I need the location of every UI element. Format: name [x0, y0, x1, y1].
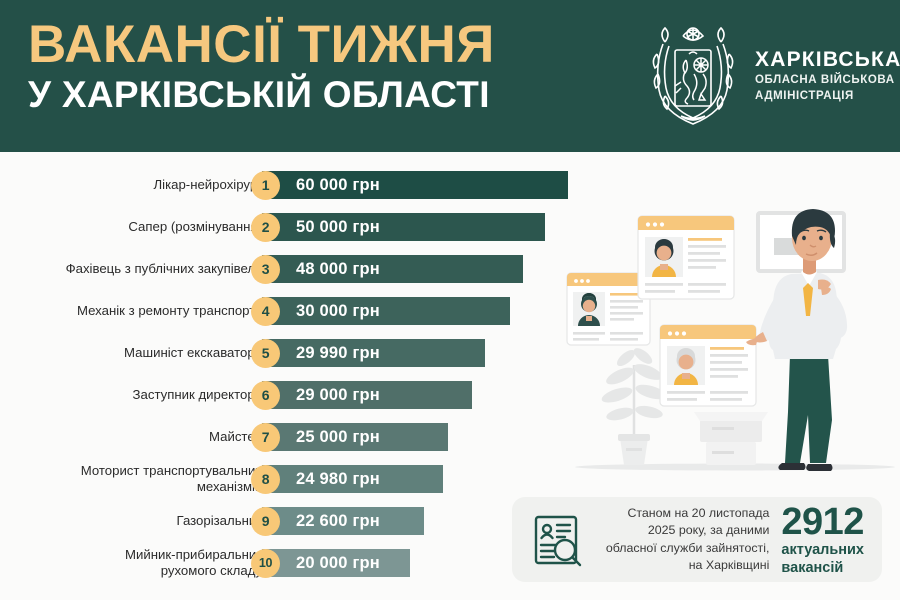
- summary-note-line-2: 2025 року, за даними: [596, 522, 769, 540]
- logo-text-block: ХАРКІВСЬКА ОБЛАСНА ВІЙСЬКОВА АДМІНІСТРАЦ…: [755, 47, 900, 104]
- salary-bar: 824 980 грн: [262, 465, 443, 493]
- title-line-1: ВАКАНСІЇ ТИЖНЯ: [28, 16, 495, 73]
- salary-value: 50 000 грн: [296, 218, 380, 237]
- job-title-label: Механік з ремонту транспорту: [32, 291, 262, 331]
- salary-value: 22 600 грн: [296, 512, 380, 531]
- job-title-label: Заступник директора: [32, 375, 262, 415]
- summary-note-line-3: обласної служби зайнятості,: [596, 540, 769, 558]
- rank-badge: 3: [251, 255, 280, 284]
- chart-row: Фахівець з публічних закупівель348 000 г…: [0, 249, 585, 289]
- cv-card: [660, 325, 756, 406]
- organization-logo: ХАРКІВСЬКА ОБЛАСНА ВІЙСЬКОВА АДМІНІСТРАЦ…: [645, 20, 900, 130]
- chart-row: Моторист транспортувальнихмеханізмів824 …: [0, 459, 585, 499]
- salary-bar: 250 000 грн: [262, 213, 545, 241]
- vacancy-count-label-1: актуальних: [781, 541, 864, 559]
- job-title-line: Лікар-нейрохірург: [153, 177, 262, 193]
- rank-badge: 1: [251, 171, 280, 200]
- salary-value: 24 980 грн: [296, 470, 380, 489]
- salary-value: 20 000 грн: [296, 554, 380, 573]
- job-title-label: Мийник-прибиральникрухомого складу: [32, 543, 262, 583]
- job-title-label: Машиніст екскаватора: [32, 333, 262, 373]
- vacancy-count-stat: 2912 актуальних вакансій: [781, 503, 864, 577]
- job-title-line: Газорізальник: [177, 513, 262, 529]
- plant: [600, 345, 668, 465]
- page-title: ВАКАНСІЇ ТИЖНЯ У ХАРКІВСЬКІЙ ОБЛАСТІ: [28, 16, 495, 117]
- summary-note-line-4: на Харківщині: [596, 557, 769, 575]
- salary-value: 30 000 грн: [296, 302, 380, 321]
- salary-value: 60 000 грн: [296, 176, 380, 195]
- salary-bar: 629 000 грн: [262, 381, 472, 409]
- rank-badge: 7: [251, 423, 280, 452]
- chart-row: Сапер (розмінування)250 000 грн: [0, 207, 585, 247]
- job-title-line: Моторист транспортувальних: [81, 463, 262, 479]
- chart-row: Мийник-прибиральникрухомого складу1020 0…: [0, 543, 585, 583]
- vacancy-count-number: 2912: [781, 503, 864, 541]
- job-title-label: Фахівець з публічних закупівель: [32, 249, 262, 289]
- salary-bar: 725 000 грн: [262, 423, 448, 451]
- desk: [694, 412, 768, 465]
- rank-badge: 8: [251, 465, 280, 494]
- chart-row: Заступник директора629 000 грн: [0, 375, 585, 415]
- job-title-label: Газорізальник: [32, 501, 262, 541]
- salary-value: 29 990 грн: [296, 344, 380, 363]
- salary-value: 29 000 грн: [296, 386, 380, 405]
- summary-stat-box: Станом на 20 листопада 2025 року, за дан…: [512, 497, 882, 582]
- job-title-line: Мийник-прибиральник: [125, 547, 262, 563]
- job-title-label: Лікар-нейрохірург: [32, 165, 262, 205]
- job-title-line: рухомого складу: [161, 563, 262, 579]
- logo-line-3: АДМІНІСТРАЦІЯ: [755, 88, 900, 104]
- chart-row: Лікар-нейрохірург160 000 грн: [0, 165, 585, 205]
- man-reviewing-cv-cards-illustration: [560, 180, 900, 480]
- resume-search-icon: [530, 512, 586, 568]
- salary-bar: 348 000 грн: [262, 255, 523, 283]
- rank-badge: 4: [251, 297, 280, 326]
- job-title-line: Механік з ремонту транспорту: [77, 303, 262, 319]
- job-title-line: Фахівець з публічних закупівель: [66, 261, 262, 277]
- coat-of-arms-kharkiv-icon: [645, 20, 741, 130]
- salary-value: 48 000 грн: [296, 260, 380, 279]
- salary-bar: 160 000 грн: [262, 171, 568, 199]
- rank-badge: 9: [251, 507, 280, 536]
- logo-line-2: ОБЛАСНА ВІЙСЬКОВА: [755, 72, 900, 88]
- chart-row: Газорізальник922 600 грн: [0, 501, 585, 541]
- vacancy-count-label-2: вакансій: [781, 559, 864, 577]
- title-line-2: У ХАРКІВСЬКІЙ ОБЛАСТІ: [28, 73, 495, 117]
- salary-value: 25 000 грн: [296, 428, 380, 447]
- salary-bar: 922 600 грн: [262, 507, 424, 535]
- salary-bar: 430 000 грн: [262, 297, 510, 325]
- rank-badge: 5: [251, 339, 280, 368]
- salary-bar: 529 990 грн: [262, 339, 485, 367]
- job-title-line: Сапер (розмінування): [128, 219, 262, 235]
- summary-note: Станом на 20 листопада 2025 року, за дан…: [596, 505, 769, 575]
- cv-card: [638, 216, 734, 299]
- chart-row: Майстер725 000 грн: [0, 417, 585, 457]
- infographic-page: ВАКАНСІЇ ТИЖНЯ У ХАРКІВСЬКІЙ ОБЛАСТІ: [0, 0, 900, 600]
- salary-bar: 1020 000 грн: [262, 549, 410, 577]
- header-banner: ВАКАНСІЇ ТИЖНЯ У ХАРКІВСЬКІЙ ОБЛАСТІ: [0, 0, 900, 152]
- summary-note-line-1: Станом на 20 листопада: [596, 505, 769, 523]
- rank-badge: 6: [251, 381, 280, 410]
- rank-badge: 10: [251, 549, 280, 578]
- chart-row: Машиніст екскаватора529 990 грн: [0, 333, 585, 373]
- logo-line-1: ХАРКІВСЬКА: [755, 47, 900, 72]
- job-title-line: Машиніст екскаватора: [124, 345, 262, 361]
- chart-row: Механік з ремонту транспорту430 000 грн: [0, 291, 585, 331]
- job-title-label: Моторист транспортувальнихмеханізмів: [32, 459, 262, 499]
- rank-badge: 2: [251, 213, 280, 242]
- job-title-line: Заступник директора: [133, 387, 262, 403]
- vacancy-salary-bar-chart: Лікар-нейрохірург160 000 грнСапер (розмі…: [0, 160, 585, 590]
- job-title-label: Сапер (розмінування): [32, 207, 262, 247]
- job-title-label: Майстер: [32, 417, 262, 457]
